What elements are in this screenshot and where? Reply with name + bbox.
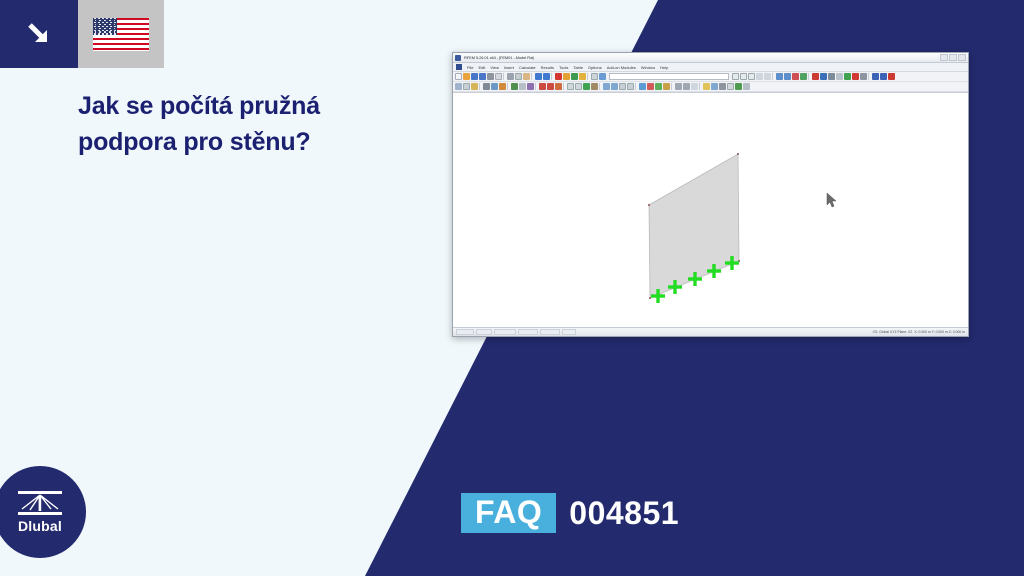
toolbar-icon-help[interactable] xyxy=(872,73,879,80)
toolbar-icon-zoom-fit[interactable] xyxy=(748,73,755,80)
menu-item-options[interactable]: Options xyxy=(588,65,602,70)
toolbar2-icon-stress[interactable] xyxy=(663,83,670,90)
status-cell-glines[interactable] xyxy=(540,329,560,335)
faq-number: 004851 xyxy=(569,497,679,529)
toolbar-separator xyxy=(587,73,590,80)
toolbar-icon-solid[interactable] xyxy=(836,73,843,80)
toolbar2-icon-report[interactable] xyxy=(727,83,734,90)
toolbar-icon-view-yz[interactable] xyxy=(800,73,807,80)
toolbar-separator xyxy=(868,73,871,80)
menu-item-insert[interactable]: Insert xyxy=(504,65,514,70)
toolbar-icon-undo[interactable] xyxy=(535,73,542,80)
toolbar2-icon-measure[interactable] xyxy=(491,83,498,90)
toolbar2-icon-deform[interactable] xyxy=(639,83,646,90)
toolbar-icon-info[interactable] xyxy=(880,73,887,80)
toolbar-icon-saveall[interactable] xyxy=(479,73,486,80)
rfem-application-window[interactable]: RFEM 5.26.01 x64 - [FEM01 - Model Flat] … xyxy=(452,52,969,337)
toolbar2-icon-osnap[interactable] xyxy=(471,83,478,90)
toolbar-icon-redo[interactable] xyxy=(543,73,550,80)
model-viewport[interactable] xyxy=(453,92,968,327)
toolbar-separator xyxy=(699,83,702,90)
toolbar-icon-table[interactable] xyxy=(591,73,598,80)
toolbar-icon-open[interactable] xyxy=(463,73,470,80)
toolbar2-icon-force[interactable] xyxy=(647,83,654,90)
status-cell-grid[interactable] xyxy=(476,329,492,335)
toolbar2-icon-loadnode[interactable] xyxy=(539,83,546,90)
window-title: RFEM 5.26.01 x64 - [FEM01 - Model Flat] xyxy=(464,55,534,60)
menu-app-icon xyxy=(456,64,462,70)
toolbar2-icon-snap[interactable] xyxy=(455,83,462,90)
menu-item-edit[interactable]: Edit xyxy=(478,65,485,70)
toolbar2-icon-grid[interactable] xyxy=(463,83,470,90)
app-icon xyxy=(455,55,461,61)
toolbar2-icon-loadline[interactable] xyxy=(547,83,554,90)
toolbar-icon-zoom-out[interactable] xyxy=(740,73,747,80)
status-info: CS: Global XYZ Plane: XZ xyxy=(873,330,913,334)
toolbar-icon-node[interactable] xyxy=(812,73,819,80)
toolbar2-icon-loadsurf[interactable] xyxy=(555,83,562,90)
menu-item-help[interactable]: Help xyxy=(660,65,668,70)
toolbar-separator xyxy=(503,73,506,80)
toolbar2-icon-support2[interactable] xyxy=(583,83,590,90)
page-title: Jak se počítá pružná podpora pro stěnu? xyxy=(78,88,438,161)
toolbar2-icon-isosurf[interactable] xyxy=(683,83,690,90)
toolbar2-icon-refresh[interactable] xyxy=(735,83,742,90)
toolbar-icon-settings[interactable] xyxy=(860,73,867,80)
toolbar2-icon-material[interactable] xyxy=(511,83,518,90)
menu-item-tools[interactable]: Tools xyxy=(559,65,568,70)
toolbar2-icon-isoline[interactable] xyxy=(675,83,682,90)
toolbar-row-secondary[interactable] xyxy=(453,82,968,92)
status-cell-cartes[interactable] xyxy=(494,329,516,335)
toolbar2-icon-display1[interactable] xyxy=(603,83,610,90)
toolbar-separator xyxy=(507,83,510,90)
toolbar2-icon-print2[interactable] xyxy=(719,83,726,90)
status-cell-osnap[interactable] xyxy=(518,329,538,335)
toolbar-icon-zoom-in[interactable] xyxy=(732,73,739,80)
toolbar-icon-cut[interactable] xyxy=(507,73,514,80)
toolbar2-icon-release[interactable] xyxy=(575,83,582,90)
toolbar2-icon-display2[interactable] xyxy=(611,83,618,90)
toolbar-separator xyxy=(808,73,811,80)
toolbar-icon-view-xy[interactable] xyxy=(784,73,791,80)
toolbar2-icon-display4[interactable] xyxy=(627,83,634,90)
toolbar2-icon-dim[interactable] xyxy=(483,83,490,90)
menu-bar[interactable]: File Edit View Insert Calculate Results … xyxy=(453,63,968,72)
toolbar-icon-render[interactable] xyxy=(599,73,606,80)
truss-bridge-icon xyxy=(18,491,62,515)
toolbar-icon-copy[interactable] xyxy=(515,73,522,80)
toolbar-separator xyxy=(531,73,534,80)
flag-graphic xyxy=(93,18,149,51)
menu-item-view[interactable]: View xyxy=(490,65,499,70)
toolbar-icon-loadcase[interactable] xyxy=(579,73,586,80)
toolbar-icon-exit[interactable] xyxy=(888,73,895,80)
toolbar-icon-print[interactable] xyxy=(487,73,494,80)
toolbar-separator xyxy=(563,83,566,90)
toolbar-row-primary[interactable] xyxy=(453,72,968,82)
toolbar-separator xyxy=(535,83,538,90)
toolbar2-icon-thickness[interactable] xyxy=(519,83,526,90)
menu-item-window[interactable]: Window xyxy=(641,65,655,70)
window-controls[interactable] xyxy=(940,54,966,61)
close-button[interactable] xyxy=(958,54,966,61)
toolbar-icon-rotate[interactable] xyxy=(764,73,771,80)
dlubal-logo: Dlubal xyxy=(0,466,86,558)
menu-item-addon-modules[interactable]: Add-on Modules xyxy=(607,65,636,70)
toolbar-icon-calc-all[interactable] xyxy=(563,73,570,80)
arrow-down-right-icon xyxy=(0,0,78,68)
toolbar-icon-new[interactable] xyxy=(455,73,462,80)
faq-badge: FAQ xyxy=(461,493,556,533)
status-coords: X: 0.000 m Y: 0.000 m Z: 0.000 m xyxy=(914,330,965,334)
flag-canton xyxy=(93,18,117,36)
toolbar-icon-paste[interactable] xyxy=(523,73,530,80)
menu-item-table[interactable]: Table xyxy=(573,65,583,70)
maximize-button[interactable] xyxy=(949,54,957,61)
toolbar-separator xyxy=(599,83,602,90)
toolbar-icon-save[interactable] xyxy=(471,73,478,80)
toolbar-icon-preview[interactable] xyxy=(495,73,502,80)
toolbar-separator xyxy=(635,83,638,90)
toolbar-icon-view-iso[interactable] xyxy=(776,73,783,80)
toolbar-icon-delete[interactable] xyxy=(852,73,859,80)
top-badge-bar xyxy=(0,0,164,68)
toolbar2-icon-section[interactable] xyxy=(499,83,506,90)
toolbar-icon-view-xz[interactable] xyxy=(792,73,799,80)
page-title-line-1: Jak se počítá pružná xyxy=(78,88,438,124)
window-titlebar: RFEM 5.26.01 x64 - [FEM01 - Model Flat] xyxy=(453,53,968,63)
page-title-line-2: podpora pro stěnu? xyxy=(78,124,438,160)
toolbar-icon-results[interactable] xyxy=(571,73,578,80)
dlubal-logo-text: Dlubal xyxy=(18,518,62,534)
minimize-button[interactable] xyxy=(940,54,948,61)
toolbar2-icon-foundation[interactable] xyxy=(591,83,598,90)
menu-item-results[interactable]: Results xyxy=(541,65,554,70)
toolbar-separator xyxy=(671,83,674,90)
toolbar-separator xyxy=(479,83,482,90)
toolbar2-icon-anim[interactable] xyxy=(691,83,698,90)
toolbar2-icon-more[interactable] xyxy=(743,83,750,90)
status-cell-dxf[interactable] xyxy=(562,329,576,335)
mouse-cursor xyxy=(827,193,836,207)
us-flag-icon xyxy=(78,0,164,68)
toolbar-icon-calculate[interactable] xyxy=(555,73,562,80)
toolbar2-icon-wizard[interactable] xyxy=(703,83,710,90)
toolbar-separator xyxy=(772,73,775,80)
toolbar-icon-pan[interactable] xyxy=(756,73,763,80)
toolbar2-icon-hinge[interactable] xyxy=(567,83,574,90)
toolbar-separator xyxy=(551,73,554,80)
toolbar-icon-support[interactable] xyxy=(844,73,851,80)
toolbar2-icon-export[interactable] xyxy=(711,83,718,90)
status-cell-snap[interactable] xyxy=(456,329,474,335)
menu-item-calculate[interactable]: Calculate xyxy=(519,65,536,70)
toolbar-icon-line[interactable] xyxy=(820,73,827,80)
loadcase-select[interactable] xyxy=(609,73,729,80)
menu-item-file[interactable]: File xyxy=(467,65,473,70)
status-bar: CS: Global XYZ Plane: XZ X: 0.000 m Y: 0… xyxy=(453,327,968,336)
toolbar2-icon-moment[interactable] xyxy=(655,83,662,90)
toolbar2-icon-display3[interactable] xyxy=(619,83,626,90)
faq-footer: FAQ 004851 xyxy=(461,493,679,533)
toolbar-icon-surface[interactable] xyxy=(828,73,835,80)
toolbar2-icon-crosssec[interactable] xyxy=(527,83,534,90)
